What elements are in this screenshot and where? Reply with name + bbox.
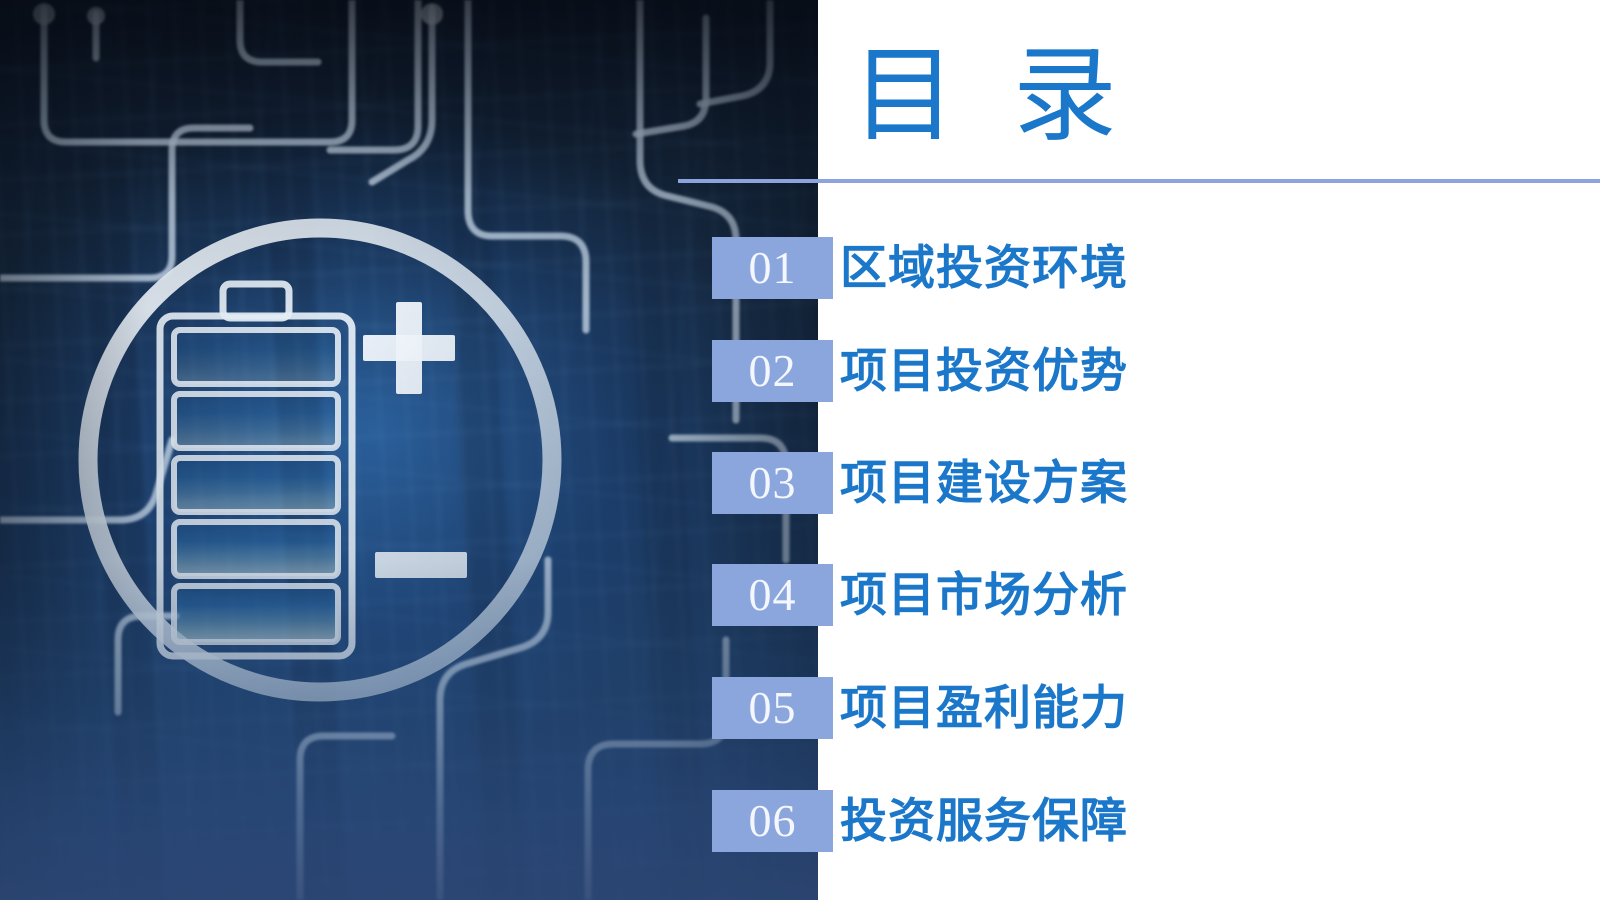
slide-canvas: 目 录 01 区域投资环境 02 项目投资优势 03 项目建设方案 04 项目市… (0, 0, 1600, 900)
table-of-contents: 01 区域投资环境 02 项目投资优势 03 项目建设方案 04 项目市场分析 … (0, 0, 1600, 900)
toc-number-badge: 04 (712, 564, 833, 626)
toc-label: 区域投资环境 (840, 237, 1128, 299)
toc-label: 项目盈利能力 (840, 677, 1128, 739)
toc-label: 投资服务保障 (840, 790, 1128, 852)
toc-number-badge: 03 (712, 452, 833, 514)
toc-label: 项目市场分析 (840, 564, 1128, 626)
toc-number-badge: 06 (712, 790, 833, 852)
toc-number-badge: 02 (712, 340, 833, 402)
toc-label: 项目投资优势 (840, 340, 1128, 402)
toc-number-badge: 05 (712, 677, 833, 739)
toc-number-badge: 01 (712, 237, 833, 299)
toc-label: 项目建设方案 (840, 452, 1128, 514)
